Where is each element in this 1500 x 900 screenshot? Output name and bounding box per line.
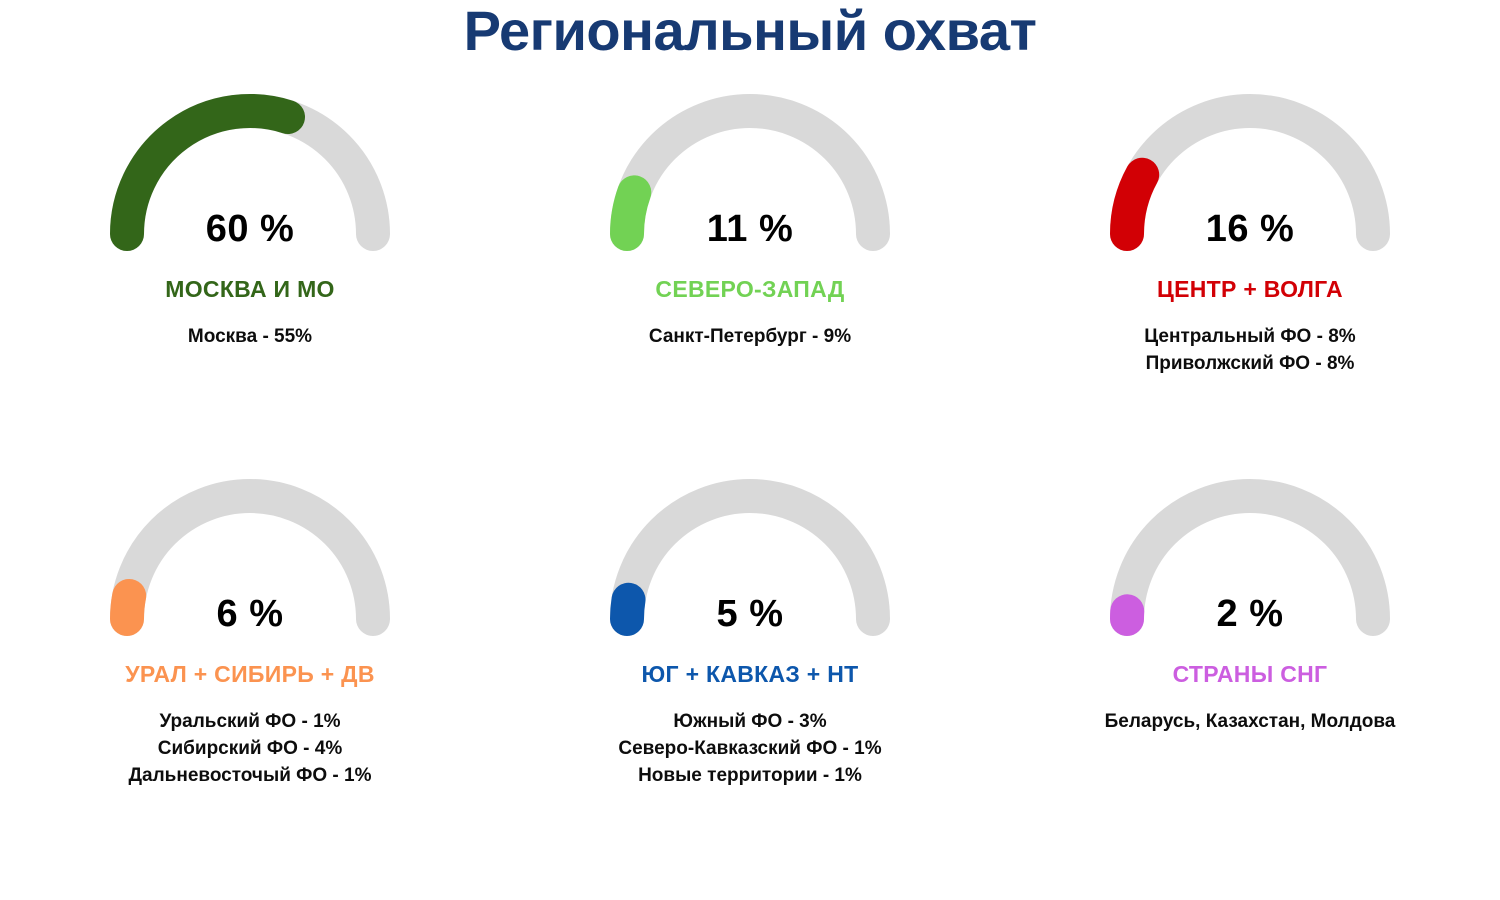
gauge-detail-list: Беларусь, Казахстан, Молдова [1105, 709, 1396, 736]
gauge-card: 11 %СЕВЕРО-ЗАПАДСанкт-Петербург - 9% [500, 79, 1000, 464]
gauge-figure: 2 % [1090, 464, 1410, 636]
gauge-region-label: УРАЛ + СИБИРЬ + ДВ [125, 662, 375, 687]
gauge-card: 60 %МОСКВА И МОМосква - 55% [0, 79, 500, 464]
gauge-detail-line: Центральный ФО - 8% [1144, 324, 1355, 351]
regional-coverage-infographic: Региональный охват 60 %МОСКВА И МОМосква… [0, 0, 1500, 900]
gauge-figure: 16 % [1090, 79, 1410, 251]
gauge-detail-list: Уральский ФО - 1%Сибирский ФО - 4%Дальне… [129, 709, 372, 790]
gauge-value-text: 2 % [1090, 593, 1410, 636]
gauge-value-text: 16 % [1090, 208, 1410, 251]
gauge-detail-line: Беларусь, Казахстан, Молдова [1105, 709, 1396, 736]
gauge-figure: 6 % [90, 464, 410, 636]
gauge-figure: 5 % [590, 464, 910, 636]
gauge-detail-line: Дальневосточый ФО - 1% [129, 763, 372, 790]
gauge-card: 16 %ЦЕНТР + ВОЛГАЦентральный ФО - 8%Прив… [1000, 79, 1500, 464]
gauge-grid: 60 %МОСКВА И МОМосква - 55%11 %СЕВЕРО-ЗА… [0, 79, 1500, 849]
gauge-value-text: 6 % [90, 593, 410, 636]
gauge-region-label: ЮГ + КАВКАЗ + НТ [642, 662, 859, 687]
gauge-detail-list: Южный ФО - 3%Северо-Кавказский ФО - 1%Но… [618, 709, 881, 790]
gauge-detail-line: Южный ФО - 3% [618, 709, 881, 736]
gauge-detail-line: Северо-Кавказский ФО - 1% [618, 736, 881, 763]
gauge-card: 5 %ЮГ + КАВКАЗ + НТЮжный ФО - 3%Северо-К… [500, 464, 1000, 849]
gauge-detail-list: Центральный ФО - 8%Приволжский ФО - 8% [1144, 324, 1355, 378]
gauge-card: 6 %УРАЛ + СИБИРЬ + ДВУральский ФО - 1%Си… [0, 464, 500, 849]
gauge-figure: 11 % [590, 79, 910, 251]
gauge-detail-line: Приволжский ФО - 8% [1144, 351, 1355, 378]
gauge-value-text: 60 % [90, 208, 410, 251]
gauge-figure: 60 % [90, 79, 410, 251]
gauge-card: 2 %СТРАНЫ СНГБеларусь, Казахстан, Молдов… [1000, 464, 1500, 849]
gauge-value-text: 11 % [590, 208, 910, 251]
gauge-detail-line: Москва - 55% [188, 324, 312, 351]
gauge-detail-list: Санкт-Петербург - 9% [649, 324, 851, 351]
gauge-detail-line: Новые территории - 1% [618, 763, 881, 790]
gauge-region-label: СТРАНЫ СНГ [1173, 662, 1328, 687]
gauge-detail-line: Санкт-Петербург - 9% [649, 324, 851, 351]
gauge-value-text: 5 % [590, 593, 910, 636]
gauge-region-label: ЦЕНТР + ВОЛГА [1157, 277, 1343, 302]
gauge-detail-line: Уральский ФО - 1% [129, 709, 372, 736]
gauge-detail-list: Москва - 55% [188, 324, 312, 351]
gauge-region-label: СЕВЕРО-ЗАПАД [655, 277, 844, 302]
gauge-region-label: МОСКВА И МО [165, 277, 334, 302]
page-title: Региональный охват [0, 0, 1500, 61]
gauge-detail-line: Сибирский ФО - 4% [129, 736, 372, 763]
